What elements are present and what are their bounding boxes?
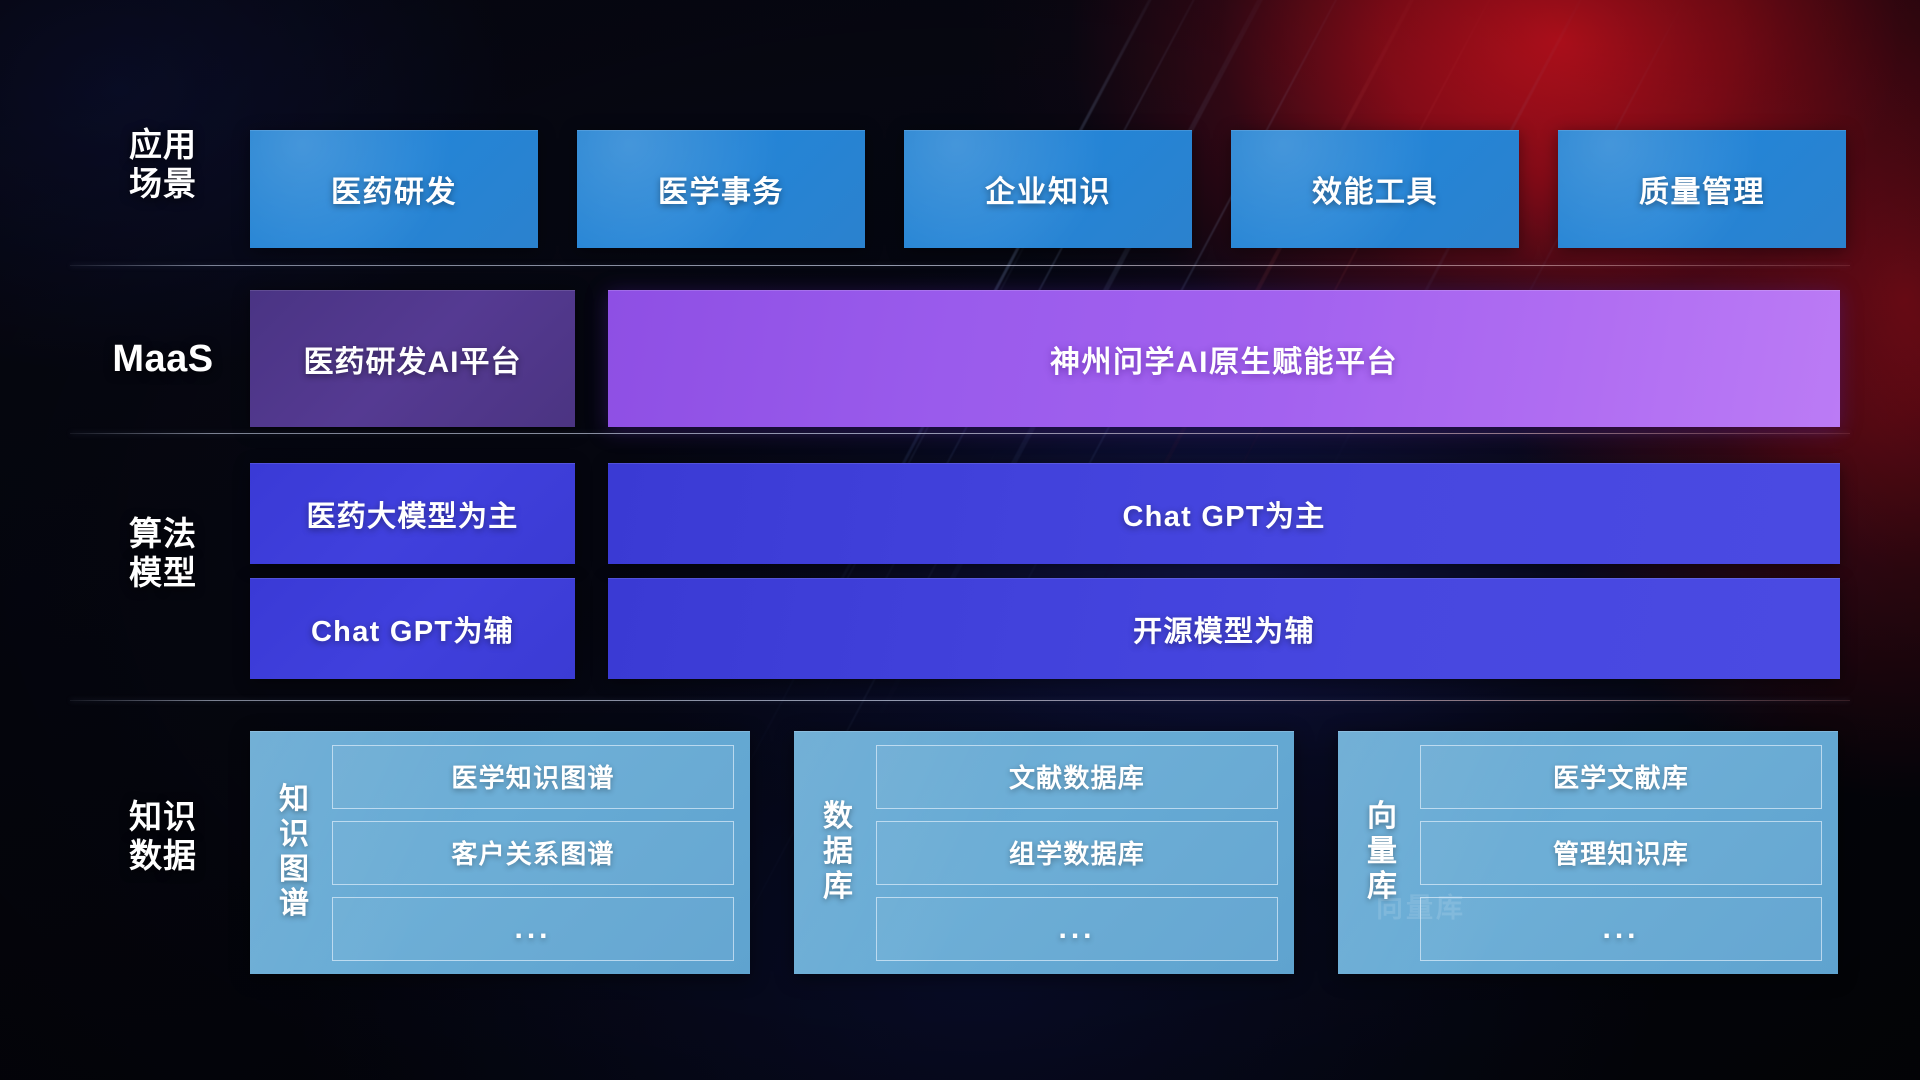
algo-box-label: 医药大模型为主	[306, 493, 518, 535]
app-box-label: 医药研发	[331, 167, 457, 211]
algo-box-chatgpt-secondary[interactable]: Chat GPT为辅	[250, 578, 575, 679]
app-box-label: 医学事务	[658, 167, 784, 211]
app-box-medical-affairs[interactable]: 医学事务	[577, 130, 865, 248]
row-label-application: 应用 场景	[78, 126, 248, 204]
knowledge-item-management-knowledge-store[interactable]: 管理知识库	[1420, 821, 1822, 885]
divider-maas-algorithm	[70, 433, 1850, 434]
knowledge-card-items: 医学知识图谱 客户关系图谱 ...	[326, 745, 734, 961]
algo-box-pharma-llm-primary[interactable]: 医药大模型为主	[250, 463, 575, 564]
app-box-enterprise-knowledge[interactable]: 企业知识	[904, 130, 1192, 248]
application-scenario-row: 医药研发 医学事务 企业知识 效能工具 质量管理	[250, 130, 1846, 248]
row-label-line: 场景	[78, 165, 248, 204]
app-box-label: 质量管理	[1639, 167, 1765, 211]
divider-application-maas	[70, 265, 1850, 266]
row-label-line: 应用	[78, 126, 248, 165]
vertical-label-char: 谱	[262, 887, 326, 922]
vertical-label-char: 据	[806, 835, 870, 870]
maas-box-label: 神州问学AI原生赋能平台	[1050, 337, 1398, 381]
knowledge-card-vertical-label: 数 据 库	[806, 800, 870, 904]
vertical-label-char: 识	[262, 818, 326, 853]
algo-box-opensource-secondary[interactable]: 开源模型为辅	[608, 578, 1840, 679]
algo-box-chatgpt-primary[interactable]: Chat GPT为主	[608, 463, 1840, 564]
knowledge-card-vector-store[interactable]: 向 量 库 医学文献库 管理知识库 ...	[1338, 731, 1838, 974]
row-label-algorithm: 算法 模型	[78, 515, 248, 593]
knowledge-item-more[interactable]: ...	[332, 897, 734, 961]
knowledge-card-knowledge-graph[interactable]: 知 识 图 谱 医学知识图谱 客户关系图谱 ...	[250, 731, 750, 974]
app-box-medicine-rd[interactable]: 医药研发	[250, 130, 538, 248]
maas-box-pharma-ai-platform[interactable]: 医药研发AI平台	[250, 290, 575, 427]
knowledge-card-vertical-label: 向 量 库	[1350, 800, 1414, 904]
knowledge-item-literature-database[interactable]: 文献数据库	[876, 745, 1278, 809]
algo-box-label: Chat GPT为辅	[311, 608, 514, 650]
knowledge-card-database[interactable]: 数 据 库 文献数据库 组学数据库 ...	[794, 731, 1294, 974]
knowledge-data-row: 知 识 图 谱 医学知识图谱 客户关系图谱 ... 数 据 库 文献数据库 组学…	[250, 731, 1838, 974]
maas-box-shenzhou-wenxue-platform[interactable]: 神州问学AI原生赋能平台	[608, 290, 1840, 427]
algo-box-label: Chat GPT为主	[1122, 493, 1325, 535]
row-label-line: MaaS	[78, 337, 248, 382]
vertical-label-char: 库	[806, 870, 870, 905]
app-box-quality-management[interactable]: 质量管理	[1558, 130, 1846, 248]
row-label-knowledge: 知识 数据	[78, 798, 248, 876]
vertical-label-char: 量	[1350, 835, 1414, 870]
algorithm-row-secondary: Chat GPT为辅 开源模型为辅	[250, 578, 1840, 679]
app-box-label: 企业知识	[985, 167, 1111, 211]
maas-row: 医药研发AI平台 神州问学AI原生赋能平台	[250, 290, 1840, 427]
row-label-line: 知识	[78, 798, 248, 837]
row-label-line: 数据	[78, 837, 248, 876]
knowledge-item-customer-relation-graph[interactable]: 客户关系图谱	[332, 821, 734, 885]
row-label-maas: MaaS	[78, 337, 248, 382]
row-label-line: 模型	[78, 554, 248, 593]
knowledge-item-more[interactable]: ...	[876, 897, 1278, 961]
maas-box-label: 医药研发AI平台	[304, 337, 522, 381]
knowledge-item-medical-literature-store[interactable]: 医学文献库	[1420, 745, 1822, 809]
app-box-label: 效能工具	[1312, 167, 1438, 211]
vertical-label-char: 数	[806, 800, 870, 835]
algo-box-label: 开源模型为辅	[1133, 608, 1315, 650]
knowledge-item-medical-knowledge-graph[interactable]: 医学知识图谱	[332, 745, 734, 809]
app-box-efficiency-tools[interactable]: 效能工具	[1231, 130, 1519, 248]
vertical-label-char: 知	[262, 783, 326, 818]
vertical-label-char: 向	[1350, 800, 1414, 835]
knowledge-card-items: 文献数据库 组学数据库 ...	[870, 745, 1278, 961]
algorithm-row-primary: 医药大模型为主 Chat GPT为主	[250, 463, 1840, 564]
knowledge-item-more[interactable]: ...	[1420, 897, 1822, 961]
knowledge-card-items: 医学文献库 管理知识库 ...	[1414, 745, 1822, 961]
knowledge-item-omics-database[interactable]: 组学数据库	[876, 821, 1278, 885]
divider-algorithm-knowledge	[70, 700, 1850, 701]
row-label-line: 算法	[78, 515, 248, 554]
vertical-label-char: 库	[1350, 870, 1414, 905]
architecture-diagram: 应用 场景 医药研发 医学事务 企业知识 效能工具 质量管理 MaaS 医药研发…	[0, 0, 1920, 1080]
vertical-label-char: 图	[262, 853, 326, 888]
knowledge-card-vertical-label: 知 识 图 谱	[262, 783, 326, 922]
